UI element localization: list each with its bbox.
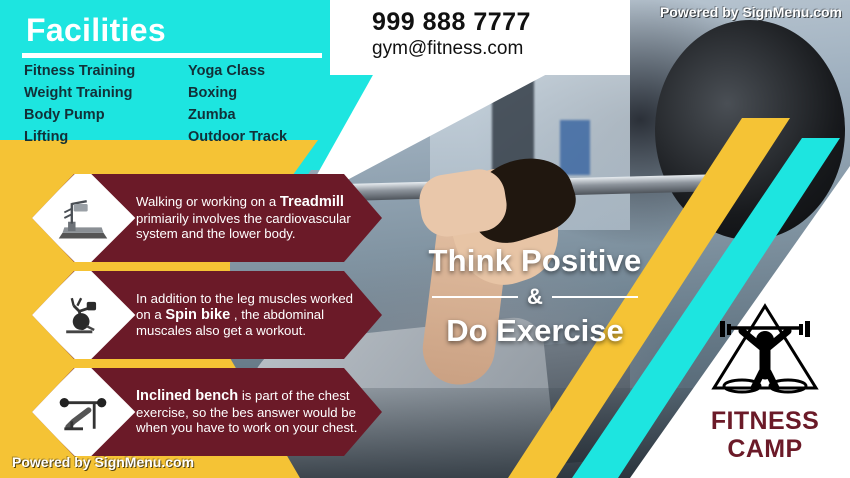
- card-bold-term: Treadmill: [280, 194, 344, 210]
- spin-bike-icon: [55, 292, 111, 338]
- tagline-rule-right: [552, 296, 638, 298]
- facilities-column-left: Fitness Training Weight Training Body Pu…: [24, 63, 164, 145]
- inclined-bench-icon: [55, 389, 111, 435]
- facilities-list: Fitness Training Weight Training Body Pu…: [24, 63, 328, 145]
- logo-line-2: CAMP: [690, 435, 840, 463]
- contact-block: 999 888 7777 gym@fitness.com: [372, 8, 531, 60]
- card-text-spin-bike: In addition to the leg muscles worked on…: [136, 291, 360, 339]
- tagline-line-2: Do Exercise: [400, 313, 670, 349]
- tagline-ampersand: &: [527, 284, 543, 310]
- card-bold-term: Spin bike: [165, 307, 230, 323]
- facility-item: Zumba: [188, 107, 328, 123]
- tagline-block: Think Positive & Do Exercise: [400, 243, 670, 349]
- equipment-card-treadmill: Walking or working on a Treadmill primia…: [32, 174, 382, 262]
- facility-item: Fitness Training: [24, 63, 164, 79]
- facility-item: Boxing: [188, 85, 328, 101]
- brand-logo: FITNESS CAMP: [690, 300, 840, 463]
- card-lead-text: Walking or working on a: [136, 194, 280, 209]
- watermark-top: Powered by SignMenu.com: [660, 4, 842, 20]
- card-bold-term: Inclined bench: [136, 388, 238, 404]
- watermark-bottom: Powered by SignMenu.com: [12, 454, 194, 470]
- facility-item: Outdoor Track: [188, 129, 328, 145]
- email-address[interactable]: gym@fitness.com: [372, 38, 531, 60]
- tagline-line-1: Think Positive: [400, 243, 670, 279]
- facilities-heading: Facilities: [26, 12, 166, 49]
- tagline-divider-row: &: [400, 284, 670, 310]
- facility-item: Lifting: [24, 129, 164, 145]
- facilities-column-right: Yoga Class Boxing Zumba Outdoor Track: [188, 63, 328, 145]
- card-text-treadmill: Walking or working on a Treadmill primia…: [136, 194, 360, 242]
- facility-item: Body Pump: [24, 107, 164, 123]
- facility-item: Yoga Class: [188, 63, 328, 79]
- logo-line-1: FITNESS: [690, 407, 840, 435]
- logo-text: FITNESS CAMP: [690, 407, 840, 463]
- card-rest-text: primiarily involves the cardiovascular s…: [136, 211, 351, 242]
- signage-canvas: Facilities Fitness Training Weight Train…: [0, 0, 850, 478]
- card-text-inclined-bench: Inclined bench is part of the chest exer…: [136, 388, 360, 436]
- facility-item: Weight Training: [24, 85, 164, 101]
- tagline-rule-left: [432, 296, 518, 298]
- facilities-underline: [22, 53, 322, 58]
- photo-blue-locker: [560, 120, 590, 175]
- phone-number[interactable]: 999 888 7777: [372, 8, 531, 37]
- treadmill-icon: [55, 195, 111, 241]
- equipment-card-inclined-bench: Inclined bench is part of the chest exer…: [32, 368, 382, 456]
- equipment-card-spin-bike: In addition to the leg muscles worked on…: [32, 271, 382, 359]
- weightlifter-triangle-icon: [704, 300, 826, 398]
